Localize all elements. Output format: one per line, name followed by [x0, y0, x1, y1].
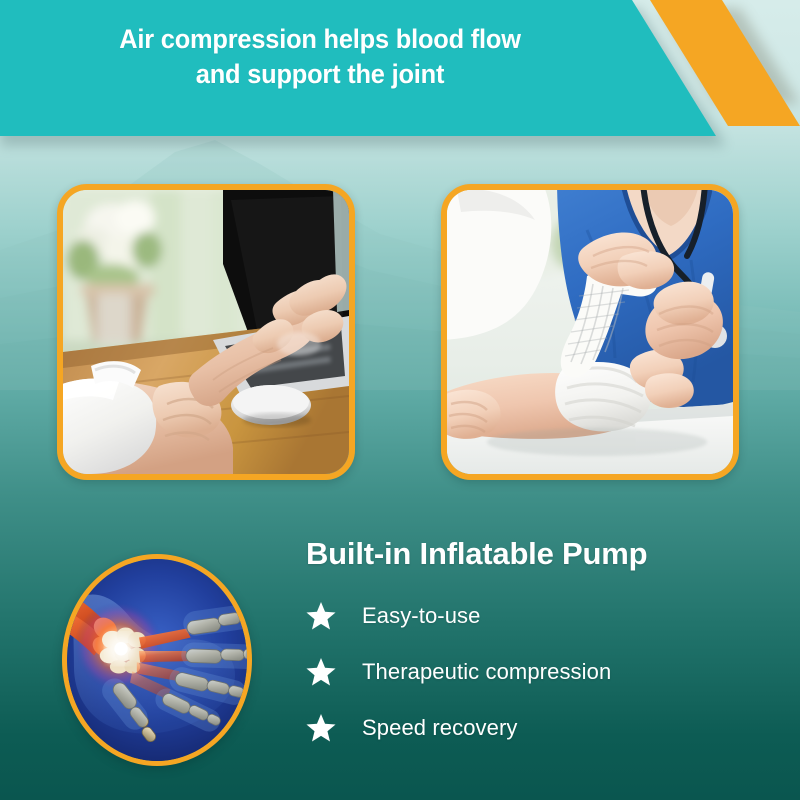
feature-bullet-row: Speed recovery [306, 704, 776, 752]
banner-headline: Air compression helps blood flow and sup… [57, 22, 583, 91]
photo-scene [447, 190, 733, 474]
feature-block: Built-in Inflatable Pump Easy-to-use The… [306, 536, 776, 760]
star-icon [306, 601, 336, 631]
wrist-pain-at-desk-photo[interactable] [57, 184, 355, 480]
feature-heading: Built-in Inflatable Pump [306, 536, 776, 572]
feature-bullet-label: Speed recovery [362, 715, 518, 741]
star-icon [306, 657, 336, 687]
photo-scene [63, 190, 349, 474]
feature-bullet-row: Therapeutic compression [306, 648, 776, 696]
feature-bullet-label: Easy-to-use [362, 603, 480, 629]
feature-bullet-label: Therapeutic compression [362, 659, 611, 685]
nurse-bandaging-wrist-photo[interactable] [441, 184, 739, 480]
anatomy-illustration-graphic [67, 559, 247, 761]
wrist-joint-pain-illustration[interactable] [62, 554, 252, 766]
star-icon [306, 713, 336, 743]
product-feature-poster: Air compression helps blood flow and sup… [0, 0, 800, 800]
feature-bullet-row: Easy-to-use [306, 592, 776, 640]
